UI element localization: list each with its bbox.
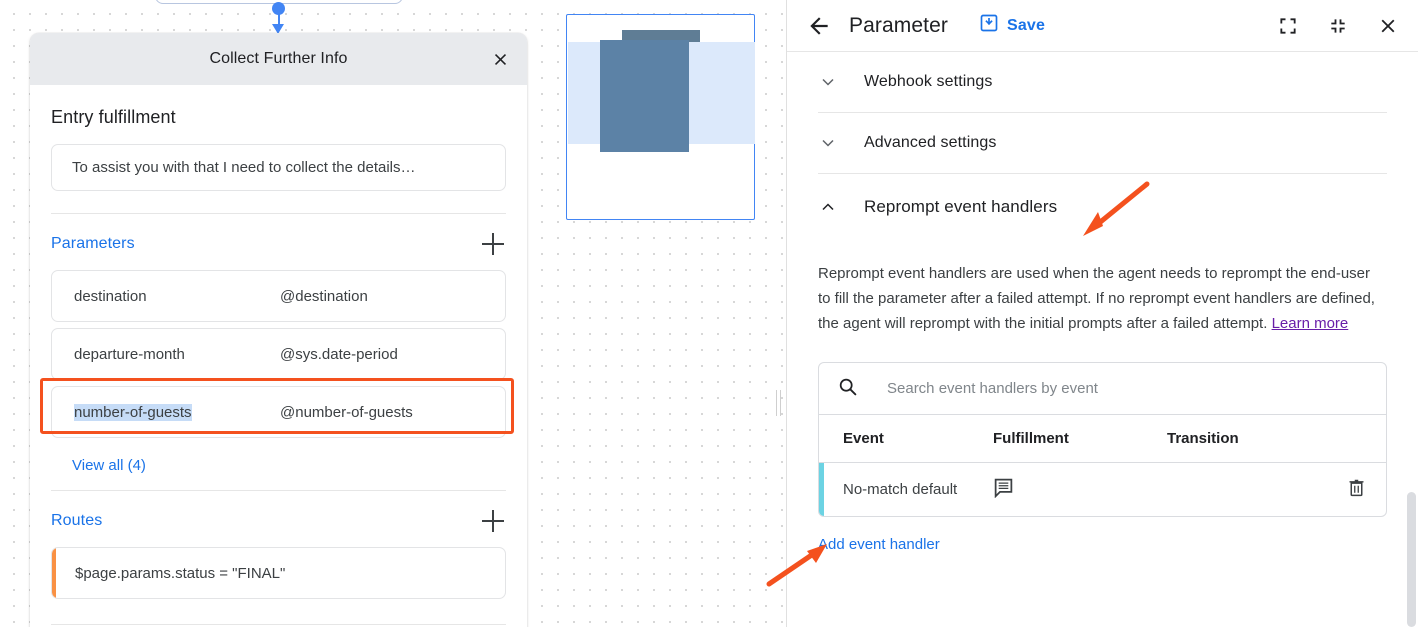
- arrow-left-icon[interactable]: [806, 13, 832, 39]
- panel-header: Parameter Save: [787, 0, 1418, 52]
- event-handler-search-row[interactable]: [819, 363, 1386, 415]
- parameter-type: @destination: [280, 288, 505, 305]
- add-route-button[interactable]: [480, 508, 506, 534]
- close-icon[interactable]: [487, 46, 513, 72]
- message-icon[interactable]: [993, 485, 1014, 502]
- expand-icon[interactable]: [1275, 13, 1301, 39]
- add-parameter-button[interactable]: [480, 231, 506, 257]
- trash-icon[interactable]: [1346, 477, 1367, 502]
- page-card-body: Entry fulfillment To assist you with tha…: [30, 107, 527, 625]
- entry-fulfillment-heading: Entry fulfillment: [51, 107, 506, 128]
- chevron-down-icon: [818, 133, 838, 153]
- section-label: Advanced settings: [864, 134, 996, 152]
- route-condition: $page.params.status = "FINAL": [56, 565, 285, 582]
- parameter-type: @sys.date-period: [280, 346, 505, 363]
- section-reprompt-event-handlers[interactable]: Reprompt event handlers: [818, 174, 1387, 240]
- chevron-up-icon: [818, 197, 838, 217]
- parameter-panel: Parameter Save: [787, 0, 1418, 627]
- chevron-down-icon: [818, 72, 838, 92]
- table-row[interactable]: No-match default: [819, 463, 1386, 516]
- row-actions-cell[interactable]: [1326, 477, 1386, 502]
- section-advanced-settings[interactable]: Advanced settings: [818, 113, 1387, 173]
- page-card-header: Collect Further Info: [30, 33, 527, 85]
- search-icon: [837, 376, 858, 402]
- routes-section-header: Routes: [51, 508, 506, 534]
- add-event-handler-link[interactable]: Add event handler: [818, 536, 940, 553]
- row-event-name: No-match default: [819, 481, 993, 498]
- parameters-heading[interactable]: Parameters: [51, 235, 135, 253]
- save-icon: [979, 13, 999, 38]
- save-label: Save: [1007, 17, 1045, 35]
- route-row[interactable]: $page.params.status = "FINAL": [51, 547, 506, 599]
- parameter-type: @number-of-guests: [280, 404, 505, 421]
- panel-scrollbar[interactable]: [1407, 492, 1416, 627]
- panel-body: Webhook settings Advanced settings: [787, 52, 1418, 554]
- parameter-name: number-of-guests: [52, 404, 280, 421]
- parameter-row[interactable]: destination @destination: [51, 270, 506, 322]
- app-root: Collect Further Info Entry fulfillment T…: [0, 0, 1418, 627]
- save-button[interactable]: Save: [979, 13, 1045, 38]
- section-webhook-settings[interactable]: Webhook settings: [818, 52, 1387, 112]
- column-header-event: Event: [819, 430, 993, 447]
- learn-more-link[interactable]: Learn more: [1272, 315, 1349, 332]
- panel-title: Parameter: [849, 14, 948, 38]
- parameters-section-header: Parameters: [51, 231, 506, 257]
- parameter-row[interactable]: departure-month @sys.date-period: [51, 328, 506, 380]
- row-fulfillment-cell[interactable]: [993, 477, 1167, 502]
- node-block: [600, 40, 689, 152]
- flow-node-thumbnail[interactable]: [566, 14, 755, 220]
- parameter-name: departure-month: [52, 346, 280, 363]
- search-input[interactable]: [885, 379, 1386, 398]
- reprompt-description: Reprompt event handlers are used when th…: [818, 261, 1386, 336]
- panel-resize-handle[interactable]: [775, 390, 783, 416]
- section-label: Webhook settings: [864, 73, 993, 91]
- view-all-parameters-link[interactable]: View all (4): [51, 444, 146, 474]
- entry-fulfillment-message[interactable]: To assist you with that I need to collec…: [51, 144, 506, 191]
- collapse-icon[interactable]: [1325, 13, 1351, 39]
- close-icon[interactable]: [1375, 13, 1401, 39]
- divider: [51, 490, 506, 491]
- section-label: Reprompt event handlers: [864, 197, 1057, 217]
- page-title: Collect Further Info: [209, 50, 347, 68]
- flow-canvas[interactable]: Collect Further Info Entry fulfillment T…: [0, 0, 787, 627]
- parameter-name: destination: [52, 288, 280, 305]
- row-status-indicator: [819, 463, 824, 516]
- divider: [51, 624, 506, 625]
- event-handlers-table: Event Fulfillment Transition No-match de…: [818, 362, 1387, 517]
- routes-heading[interactable]: Routes: [51, 512, 102, 530]
- column-header-fulfillment: Fulfillment: [993, 430, 1167, 447]
- divider: [51, 213, 506, 214]
- parameter-row-selected[interactable]: number-of-guests @number-of-guests: [51, 386, 506, 438]
- page-card[interactable]: Collect Further Info Entry fulfillment T…: [30, 33, 527, 627]
- column-header-transition: Transition: [1167, 430, 1326, 447]
- event-handlers-table-header: Event Fulfillment Transition: [819, 415, 1386, 463]
- parameter-name-selected-text: number-of-guests: [74, 404, 192, 421]
